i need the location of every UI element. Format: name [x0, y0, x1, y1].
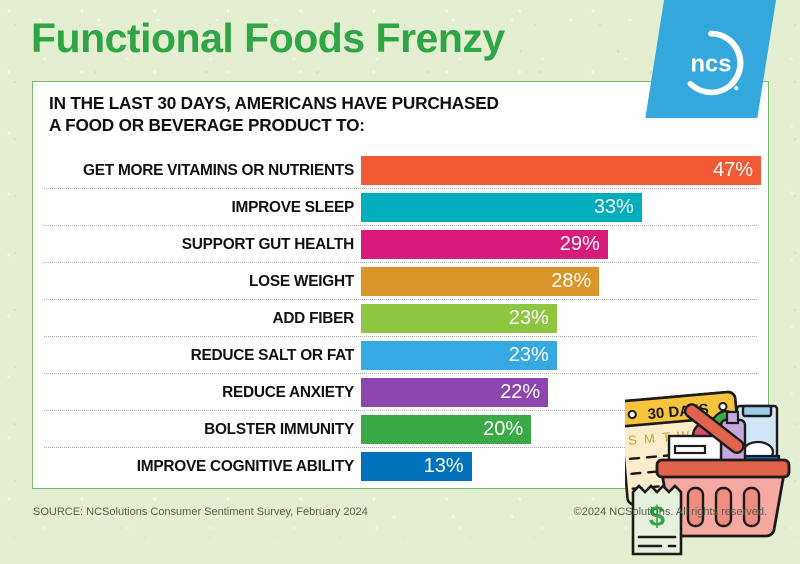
- bar-track: 47%: [361, 152, 768, 189]
- chart-heading-line-2: A FOOD OR BEVERAGE PRODUCT TO:: [49, 115, 499, 137]
- bar-value-label: 23%: [509, 307, 549, 330]
- bar-track: 29%: [361, 226, 768, 263]
- bar-track: 23%: [361, 300, 768, 337]
- ncs-logo-icon: ncs: [676, 28, 746, 98]
- bar-row: SUPPORT GUT HEALTH29%: [33, 226, 768, 263]
- bar-value-label: 47%: [713, 159, 753, 182]
- bar-value-label: 28%: [551, 270, 591, 293]
- bar-row: IMPROVE SLEEP33%: [33, 189, 768, 226]
- bar-category-label: REDUCE ANXIETY: [33, 384, 361, 402]
- copyright-note: ©2024 NCSolutions. All rights reserved.: [574, 506, 767, 518]
- source-note: SOURCE: NCSolutions Consumer Sentiment S…: [33, 506, 368, 518]
- bar-value-label: 20%: [483, 418, 523, 441]
- page-title: Functional Foods Frenzy: [31, 15, 505, 62]
- bar-value-label: 33%: [594, 196, 634, 219]
- bar-value-label: 29%: [560, 233, 600, 256]
- bar-category-label: IMPROVE COGNITIVE ABILITY: [33, 458, 361, 476]
- bar-category-label: REDUCE SALT OR FAT: [33, 347, 361, 365]
- bar-category-label: SUPPORT GUT HEALTH: [33, 236, 361, 254]
- bar-track: 28%: [361, 263, 768, 300]
- svg-text:M: M: [643, 431, 655, 447]
- groceries-illustration: 30 DAYS SMT WTF S: [625, 374, 800, 564]
- chart-heading: IN THE LAST 30 DAYS, AMERICANS HAVE PURC…: [49, 93, 499, 136]
- bar: 22%: [361, 378, 548, 407]
- bar: 29%: [361, 230, 608, 259]
- bar-row: GET MORE VITAMINS OR NUTRIENTS47%: [33, 152, 768, 189]
- chart-card: IN THE LAST 30 DAYS, AMERICANS HAVE PURC…: [32, 81, 769, 489]
- svg-text:S: S: [627, 432, 637, 448]
- bar: 23%: [361, 304, 557, 333]
- svg-text:ncs: ncs: [690, 50, 731, 77]
- bar-row: REDUCE SALT OR FAT23%: [33, 337, 768, 374]
- bar: 13%: [361, 452, 472, 481]
- bar-category-label: BOLSTER IMMUNITY: [33, 421, 361, 439]
- bar-value-label: 13%: [424, 455, 464, 478]
- bar: 33%: [361, 193, 642, 222]
- bar: 28%: [361, 267, 599, 296]
- bar-row: LOSE WEIGHT28%: [33, 263, 768, 300]
- bar-category-label: IMPROVE SLEEP: [33, 199, 361, 217]
- bar-value-label: 22%: [500, 381, 540, 404]
- bar-track: 33%: [361, 189, 768, 226]
- bar: 23%: [361, 341, 557, 370]
- bar-track: 23%: [361, 337, 768, 374]
- bar: 47%: [361, 156, 761, 185]
- bar-value-label: 23%: [509, 344, 549, 367]
- bar: 20%: [361, 415, 531, 444]
- bar-category-label: LOSE WEIGHT: [33, 273, 361, 291]
- chart-heading-line-1: IN THE LAST 30 DAYS, AMERICANS HAVE PURC…: [49, 93, 499, 115]
- bar-row: ADD FIBER23%: [33, 300, 768, 337]
- bar-category-label: GET MORE VITAMINS OR NUTRIENTS: [33, 162, 361, 180]
- bar-category-label: ADD FIBER: [33, 310, 361, 328]
